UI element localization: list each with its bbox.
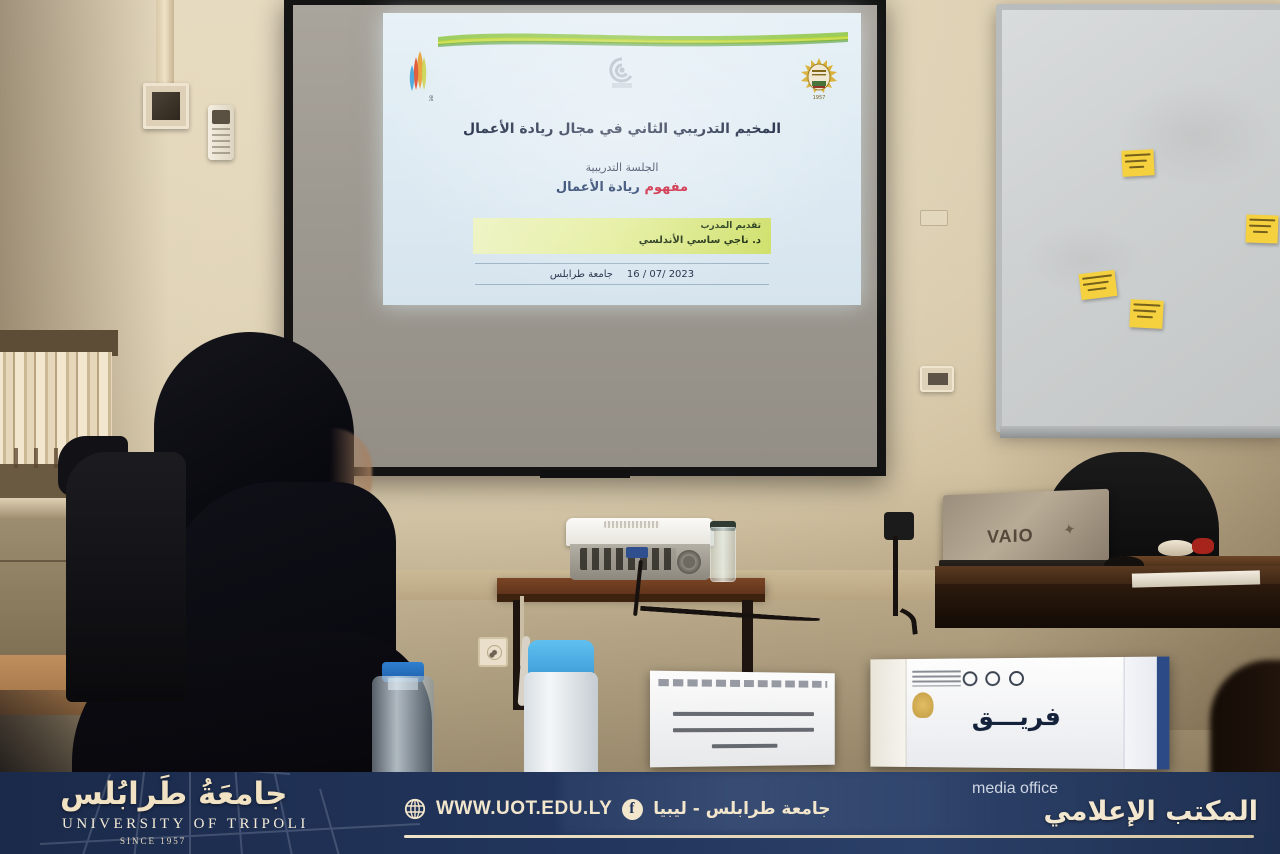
facebook-icon[interactable] [622,799,643,820]
cable-vertical-right [893,536,898,616]
slide-presenter-name: د. ناجي ساسي الأندلسي [639,235,761,246]
wall-conduit [156,0,174,85]
libya-enterprise-logo: Libya Enterprise [405,45,439,101]
slide-presenter-band: تقديم المدرب د. ناجي ساسي الأندلسي [473,218,771,254]
slide-date-value: 2023 /07 / 16 [627,269,694,280]
name-card-left-header [658,679,827,688]
drinking-glass [710,527,736,582]
name-card-left-line [673,712,814,716]
name-card-left-line [673,728,814,732]
banner-divider [404,835,1254,838]
whiteboard-marker-tray [1000,426,1280,438]
logo-circle-icon [1009,671,1024,686]
slide-topic-rest: ريادة الأعمال [556,180,645,195]
laptop-brand-label: VAIO [987,525,1034,548]
partner-spiral-logo [601,55,643,93]
ac-remote-control[interactable] [208,105,234,160]
red-object-on-desk [1192,538,1214,554]
banner-website[interactable]: WWW.UOT.EDU.LY [436,798,612,820]
name-card-blue-edge [1157,657,1170,770]
media-office-banner: جامعَةُ طَرابُلس UNIVERSITY OF TRIPOLI S… [0,772,1280,854]
laptop[interactable]: VAIO ✦ [943,492,1109,574]
classroom-photo: 1957 [0,0,1280,854]
name-card-team: فريـــق [870,657,1169,770]
screen-bottom-mount [540,470,630,478]
slide-footer: 2023 /07 / 16 جامعة طرابلس [475,263,769,285]
wall-plate-upper [920,210,948,226]
sticky-note[interactable] [1079,270,1118,300]
projector-vga-port[interactable] [626,547,648,558]
black-power-adapter [884,512,914,540]
globe-icon [404,798,426,820]
wall-control-panel[interactable] [920,366,954,392]
university-of-tripoli-emblem: 1957 [799,55,839,101]
logo-circle-icon [963,672,978,687]
desk-right-front [935,584,1280,628]
banner-since: SINCE 1957 [120,836,186,846]
sticky-note[interactable] [1129,299,1163,329]
name-card-left [650,671,835,768]
slide-session-label: الجلسة التدريبية [383,161,861,174]
whiteboard[interactable] [996,4,1280,432]
slide-topic-highlight: مفهوم [644,180,688,195]
ac-remote-display [212,110,230,124]
banner-contact-row: WWW.UOT.EDU.LY جامعة طرابلس - ليبيا [404,792,984,826]
sticky-note[interactable] [1246,214,1279,243]
slide-presenter-label: تقديم المدرب [700,221,761,231]
projector-vent [604,521,660,528]
computer-mouse[interactable] [1158,540,1194,556]
power-outlet[interactable] [478,637,508,667]
ac-remote-buttons[interactable] [212,128,230,154]
projected-slide: 1957 [383,13,861,305]
slide-venue: جامعة طرابلس [550,269,613,280]
whiteboard-smudges [1002,10,1280,426]
projector-fan-grille [677,550,701,574]
slide-session-topic: مفهوم ريادة الأعمال [383,180,861,195]
banner-university-name-ar: جامعَةُ طَرابُلس [60,776,288,812]
banner-university-name-en: UNIVERSITY OF TRIPOLI [62,816,309,833]
logo-circle-icon [986,671,1001,686]
projector-table-edge [497,594,765,602]
emblem-year: 1957 [813,95,826,101]
wall-junction-box [143,83,189,129]
projector-top-shell [566,518,714,546]
name-card-logo-text [912,670,960,686]
name-card-logo-row [959,669,1109,688]
banner-facebook-name[interactable]: جامعة طرابلس - ليبيا [653,799,830,819]
wall-box-inner [152,92,180,120]
slide-green-wave-decoration [438,29,848,51]
sticky-note[interactable] [1121,149,1154,177]
banner-media-office-ar: المكتب الإعلامي [1043,796,1258,827]
slide-title: المخيم التدريبي الثاني في مجال ريادة الأ… [383,121,861,137]
name-card-left-line [712,744,778,749]
office-chair-left [66,452,186,702]
libya-enterprise-label: Libya Enterprise [428,95,435,101]
